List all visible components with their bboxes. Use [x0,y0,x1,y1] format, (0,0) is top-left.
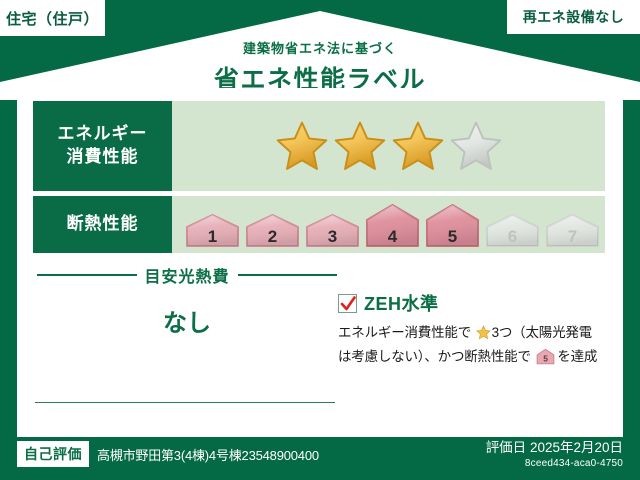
zeh-desc-part2: 3つ（太陽光発電 [492,325,592,340]
cost-rule-left [37,274,137,276]
zeh-desc-part3: は考慮しない）、かつ断熱性能で [338,349,531,364]
house-icon: 1 [184,201,241,249]
svg-text:2: 2 [268,227,277,246]
property-address: 高槻市野田第3(4棟)4号棟23548900400 [97,445,319,464]
building-type-label: 住宅（住戸） [6,8,99,29]
zeh-desc-part4: を達成 [557,349,597,364]
svg-text:5: 5 [448,227,457,246]
svg-text:6: 6 [508,227,517,246]
house-icon: 3 [304,201,361,249]
energy-label-line1: エネルギー [58,123,148,146]
svg-text:5: 5 [544,353,549,363]
svg-text:4: 4 [388,227,398,246]
insulation-level-scale: 1234567 [172,196,605,253]
house-icon: 2 [244,201,301,249]
label-uid: 8ceed434-aca0-4750 [486,458,623,469]
svg-text:3: 3 [328,227,337,246]
utility-cost-title: 目安光熱費 [145,263,230,287]
star-icon [392,120,444,172]
utility-cost-header: 目安光熱費 [37,263,337,287]
building-type-tag: 住宅（住戸） [0,0,105,36]
label-panel: エネルギー 消費性能 断熱性能 1234567 目安光熱費 なし ZEH水準 エ… [17,88,623,437]
evaluation-date: 評価日 2025年2月20日 [486,436,623,456]
renewable-energy-label: 再エネ設備なし [523,7,625,27]
zeh-description: エネルギー消費性能で 3つ（太陽光発電 は考慮しない）、かつ断熱性能で 5 を達… [338,323,608,372]
svg-text:1: 1 [208,227,217,246]
house-icon: 5 [533,353,556,368]
renewable-energy-tag: 再エネ設備なし [507,0,640,34]
insulation-label-text: 断熱性能 [67,213,139,236]
insulation-performance-label: 断熱性能 [33,196,172,253]
cost-bottom-rule [35,402,335,403]
house-icon: 5 [424,201,481,249]
insulation-performance-row: 断熱性能 1234567 [33,196,605,253]
house-icon: 7 [544,201,601,249]
footer-right: 評価日 2025年2月20日 8ceed434-aca0-4750 [486,436,623,469]
zeh-desc-part1: エネルギー消費性能で [338,325,471,340]
star-icon [276,120,328,172]
footer-left: 自己評価 高槻市野田第3(4棟)4号棟23548900400 [17,441,319,467]
star-icon [334,120,386,172]
zeh-block: ZEH水準 エネルギー消費性能で 3つ（太陽光発電 は考慮しない）、かつ断熱性能… [338,290,608,372]
energy-star-rating [172,101,605,191]
energy-performance-label: エネルギー 消費性能 [33,101,172,191]
zeh-title-text: ZEH水準 [364,290,439,316]
star-icon [450,120,502,172]
evaluation-type-badge: 自己評価 [17,441,89,467]
zeh-title-row: ZEH水準 [338,290,608,316]
check-icon[interactable] [338,294,357,313]
house-icon: 4 [364,201,421,249]
utility-cost-value: なし [37,303,337,338]
page-subtitle: 建築物省エネ法に基づく [0,38,640,57]
energy-label-line2: 消費性能 [67,146,139,169]
cost-rule-right [238,274,338,276]
star-icon [472,328,491,343]
energy-performance-row: エネルギー 消費性能 [33,101,605,191]
house-icon: 6 [484,201,541,249]
svg-text:7: 7 [568,227,577,246]
